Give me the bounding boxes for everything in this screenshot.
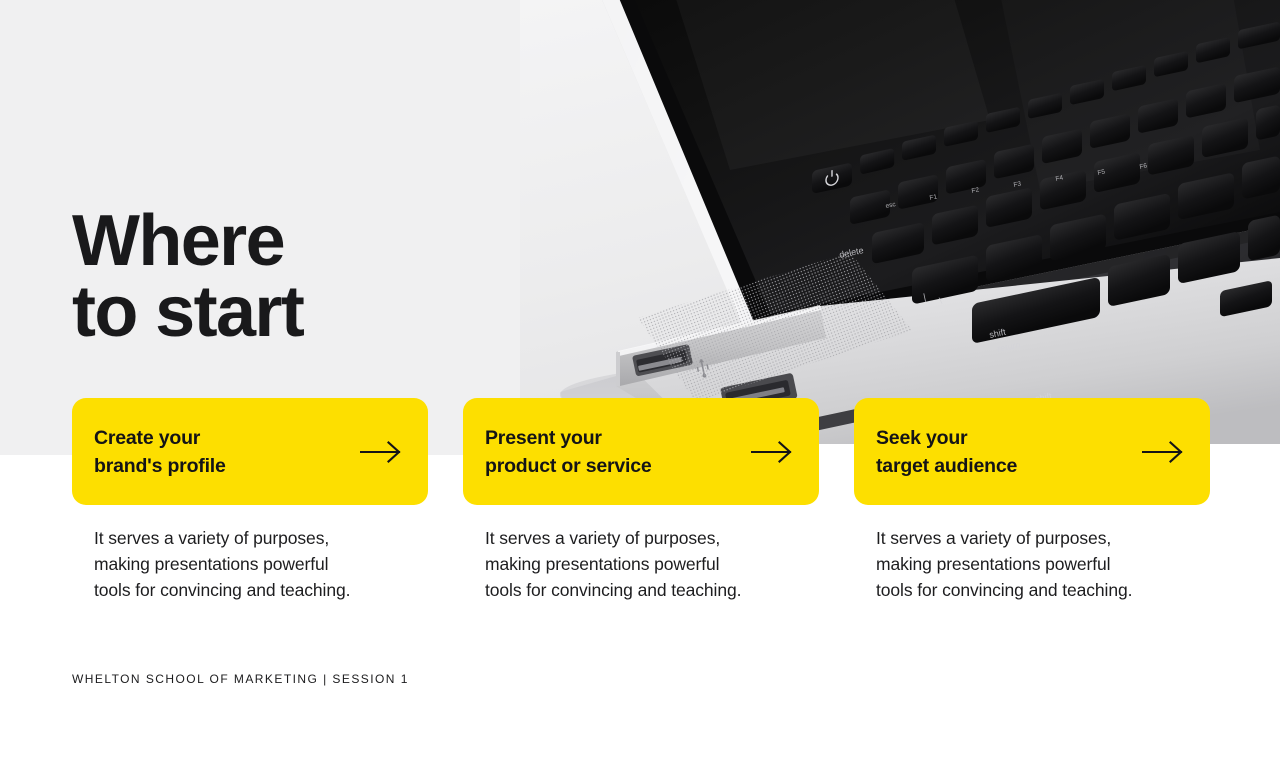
arrow-right-icon [751, 441, 793, 463]
step-card-description: It serves a variety of purposes, making … [854, 525, 1210, 603]
step-column-1: Create your brand's profile It serves a … [72, 398, 428, 621]
step-card-description: It serves a variety of purposes, making … [72, 525, 428, 603]
step-column-3: Seek your target audience It serves a va… [854, 398, 1210, 621]
page-title: Where to start [72, 206, 303, 348]
laptop-photo: HDMI [520, 0, 1280, 455]
step-card-title: Create your brand's profile [94, 424, 226, 480]
steps-card-list: Create your brand's profile It serves a … [72, 398, 1210, 621]
step-card-create-brand-profile[interactable]: Create your brand's profile [72, 398, 428, 505]
step-card-present-product-or-service[interactable]: Present your product or service [463, 398, 819, 505]
step-card-title: Present your product or service [485, 424, 652, 480]
step-card-seek-target-audience[interactable]: Seek your target audience [854, 398, 1210, 505]
arrow-right-icon [360, 441, 402, 463]
step-card-title: Seek your target audience [876, 424, 1017, 480]
step-card-description: It serves a variety of purposes, making … [463, 525, 819, 603]
presentation-slide: HDMI [0, 0, 1280, 769]
arrow-right-icon [1142, 441, 1184, 463]
slide-footer: WHELTON SCHOOL OF MARKETING | SESSION 1 [72, 671, 409, 687]
step-column-2: Present your product or service It serve… [463, 398, 819, 621]
